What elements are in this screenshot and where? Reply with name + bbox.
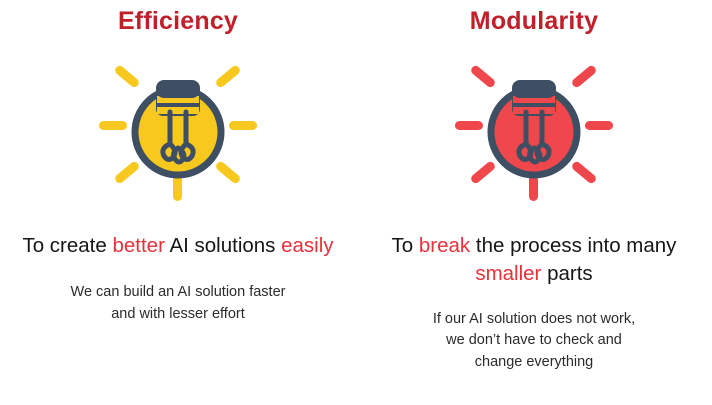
card-title-modularity: Modularity bbox=[470, 0, 598, 42]
headline-seg-1-highlight: break bbox=[419, 234, 470, 257]
card-modularity: Modularity bbox=[356, 0, 712, 405]
headline-seg-2: AI solutions bbox=[165, 234, 281, 257]
caption-modularity: If our AI solution does not work, we don… bbox=[433, 309, 635, 374]
headline-efficiency: To create better AI solutions easily bbox=[22, 232, 333, 260]
caption-efficiency: We can build an AI solution faster and w… bbox=[71, 282, 286, 326]
lightbulb-icon-modularity bbox=[449, 44, 619, 204]
headline-modularity: To break the process into many smaller p… bbox=[369, 232, 699, 289]
headline-seg-1-highlight: better bbox=[112, 234, 164, 257]
headline-seg-2: the process into many bbox=[470, 234, 676, 257]
headline-seg-3-highlight: smaller bbox=[475, 262, 541, 285]
headline-seg-0: To bbox=[392, 234, 419, 257]
headline-seg-0: To create bbox=[22, 234, 112, 257]
caption-line: change everything bbox=[433, 352, 635, 374]
caption-line: we don’t have to check and bbox=[433, 330, 635, 352]
caption-line: We can build an AI solution faster bbox=[71, 282, 286, 304]
headline-seg-4: parts bbox=[541, 262, 592, 285]
caption-line: and with lesser effort bbox=[71, 304, 286, 326]
caption-line: If our AI solution does not work, bbox=[433, 309, 635, 331]
card-title-efficiency: Efficiency bbox=[118, 0, 238, 42]
slide-canvas: Efficiency bbox=[0, 0, 712, 405]
card-efficiency: Efficiency bbox=[0, 0, 356, 405]
headline-seg-3-highlight: easily bbox=[281, 234, 333, 257]
lightbulb-cap-yellow bbox=[156, 80, 200, 116]
lightbulb-cap-red bbox=[512, 80, 556, 116]
lightbulb-icon-efficiency bbox=[93, 44, 263, 204]
